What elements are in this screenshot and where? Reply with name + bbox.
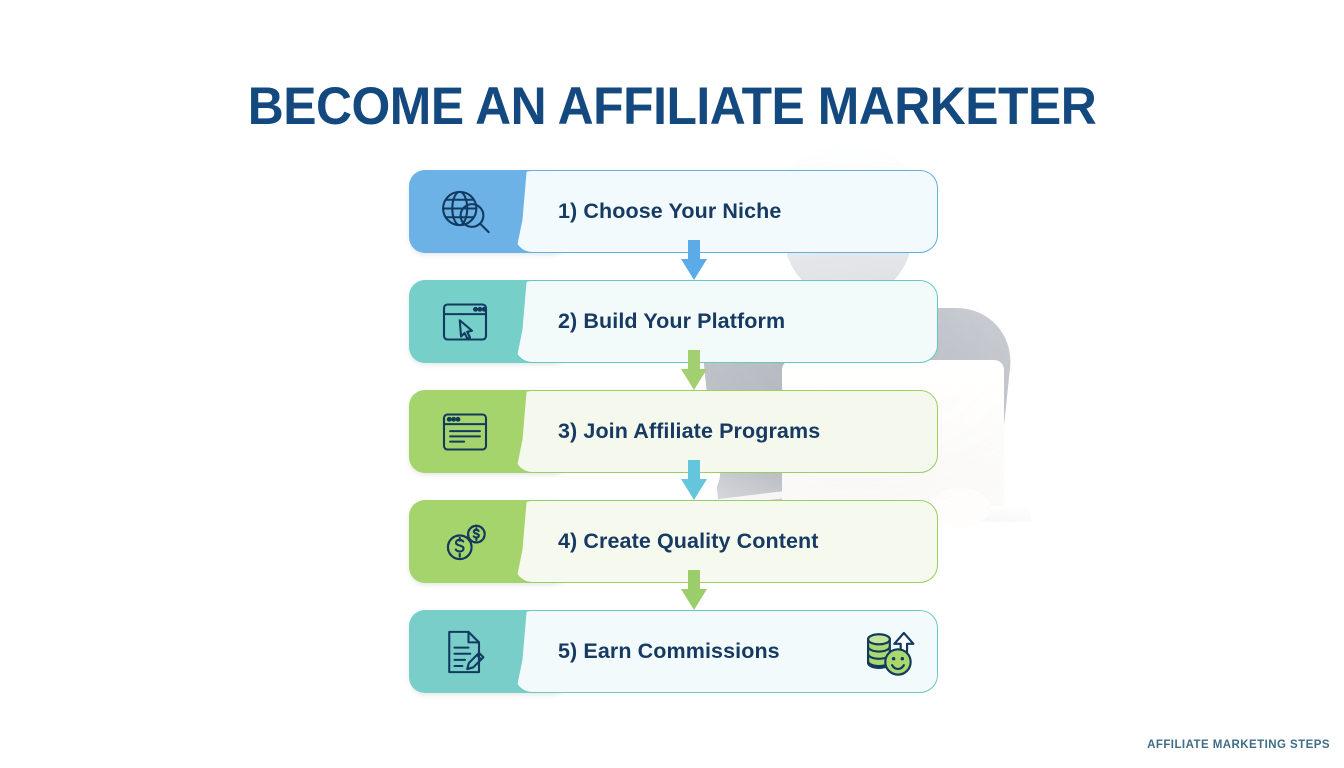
browser-cursor-icon bbox=[437, 294, 493, 350]
step-row[interactable]: 2) Build Your Platform bbox=[409, 280, 938, 363]
gears-dollar-icon bbox=[437, 514, 493, 570]
step-text-panel[interactable]: 4) Create Quality Content bbox=[514, 500, 938, 583]
step-row[interactable]: 3) Join Affiliate Programs bbox=[409, 390, 938, 473]
step-row[interactable]: 4) Create Quality Content bbox=[409, 500, 938, 583]
document-pencil-icon bbox=[437, 624, 493, 680]
step-label: 4) Create Quality Content bbox=[558, 529, 819, 554]
step-text-panel[interactable]: 1) Choose Your Niche bbox=[514, 170, 938, 253]
step-label: 5) Earn Commissions bbox=[558, 639, 780, 664]
step-text-panel[interactable]: 2) Build Your Platform bbox=[514, 280, 938, 363]
step-label: 2) Build Your Platform bbox=[558, 309, 785, 334]
steps-list: 1) Choose Your Niche2) Build Your Platfo… bbox=[409, 170, 939, 695]
step-text-panel[interactable]: 5) Earn Commissions bbox=[514, 610, 938, 693]
coins-smiley-growth-icon bbox=[859, 623, 917, 681]
step-connector-arrow bbox=[681, 570, 707, 610]
step-connector-arrow bbox=[681, 350, 707, 390]
step-row[interactable]: 5) Earn Commissions bbox=[409, 610, 938, 693]
globe-magnifier-icon bbox=[437, 184, 493, 240]
step-connector-arrow bbox=[681, 460, 707, 500]
browser-document-lines-icon bbox=[437, 404, 493, 460]
step-connector-arrow bbox=[681, 240, 707, 280]
step-row[interactable]: 1) Choose Your Niche bbox=[409, 170, 938, 253]
step-label: 3) Join Affiliate Programs bbox=[558, 419, 820, 444]
step-text-panel[interactable]: 3) Join Affiliate Programs bbox=[514, 390, 938, 473]
page-title: BECOME AN AFFILIATE MARKETER bbox=[40, 76, 1303, 137]
step-label: 1) Choose Your Niche bbox=[558, 199, 781, 224]
footer-caption: AFFILIATE MARKETING STEPS bbox=[1147, 739, 1330, 751]
